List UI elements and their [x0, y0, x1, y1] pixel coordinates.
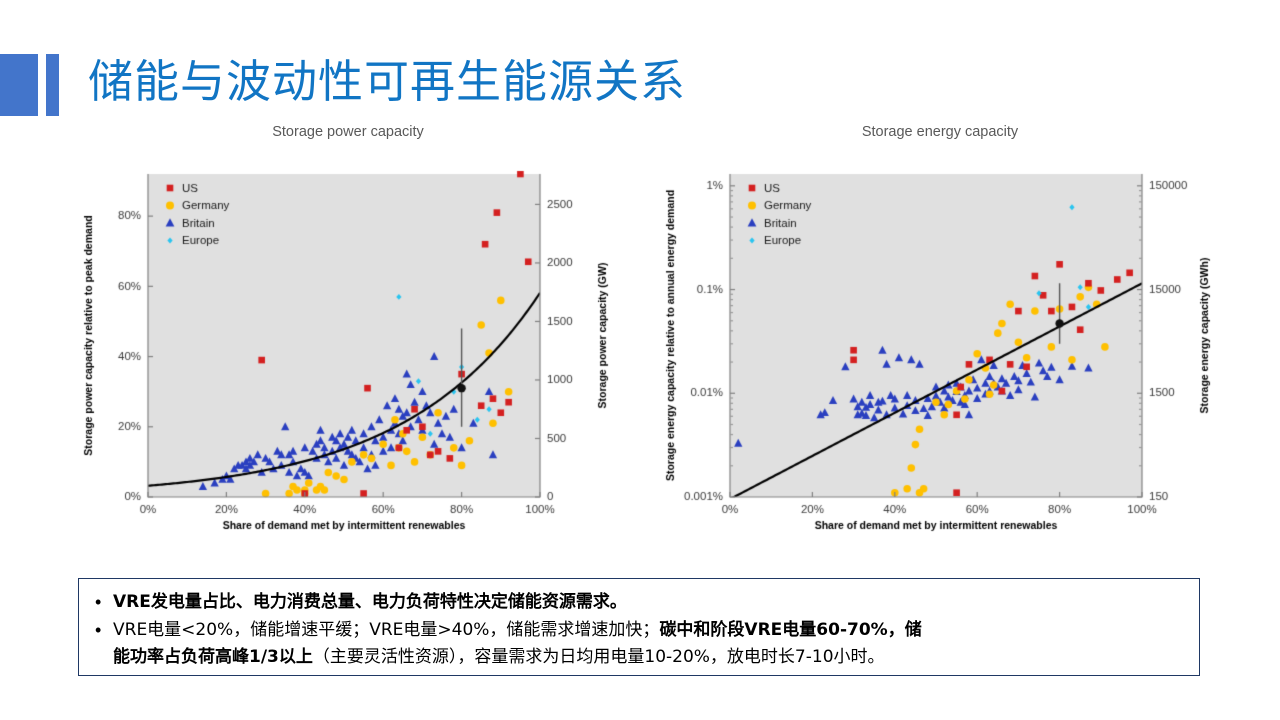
title-accent-bars — [0, 54, 59, 116]
slide: 储能与波动性可再生能源关系 Storage power capacity Sto… — [0, 0, 1280, 720]
accent-bar-wide — [0, 54, 38, 116]
scatter-chart-storage-energy — [660, 144, 1220, 559]
chart-panel-storage-energy: Storage energy capacity — [660, 120, 1220, 560]
accent-bar-narrow — [46, 54, 59, 116]
note-text-1: VRE发电量占比、电力消费总量、电力负荷特性决定储能资源需求。 — [113, 589, 627, 616]
chart-title-storage-energy: Storage energy capacity — [660, 120, 1220, 144]
note-bullet-row-2: • VRE电量<20%，储能增速平缓；VRE电量>40%，储能需求增速加快；碳中… — [95, 617, 1185, 671]
note-text-2-line-2: 能功率占负荷高峰1/3以上（主要灵活性资源），容量需求为日均用电量10-20%，… — [113, 644, 922, 671]
chart-title-storage-power: Storage power capacity — [78, 120, 618, 144]
note-text-2: VRE电量<20%，储能增速平缓；VRE电量>40%，储能需求增速加快；碳中和阶… — [113, 617, 922, 671]
summary-note-box: • VRE发电量占比、电力消费总量、电力负荷特性决定储能资源需求。 • VRE电… — [78, 578, 1200, 676]
page-title: 储能与波动性可再生能源关系 — [88, 50, 686, 114]
scatter-chart-storage-power — [78, 144, 618, 559]
chart-panel-storage-power: Storage power capacity — [78, 120, 618, 560]
bullet-marker: • — [95, 617, 113, 643]
note-bullet-row-1: • VRE发电量占比、电力消费总量、电力负荷特性决定储能资源需求。 — [95, 589, 1185, 616]
note-text-2-line-1: VRE电量<20%，储能增速平缓；VRE电量>40%，储能需求增速加快；碳中和阶… — [113, 617, 922, 644]
bullet-marker: • — [95, 589, 113, 615]
